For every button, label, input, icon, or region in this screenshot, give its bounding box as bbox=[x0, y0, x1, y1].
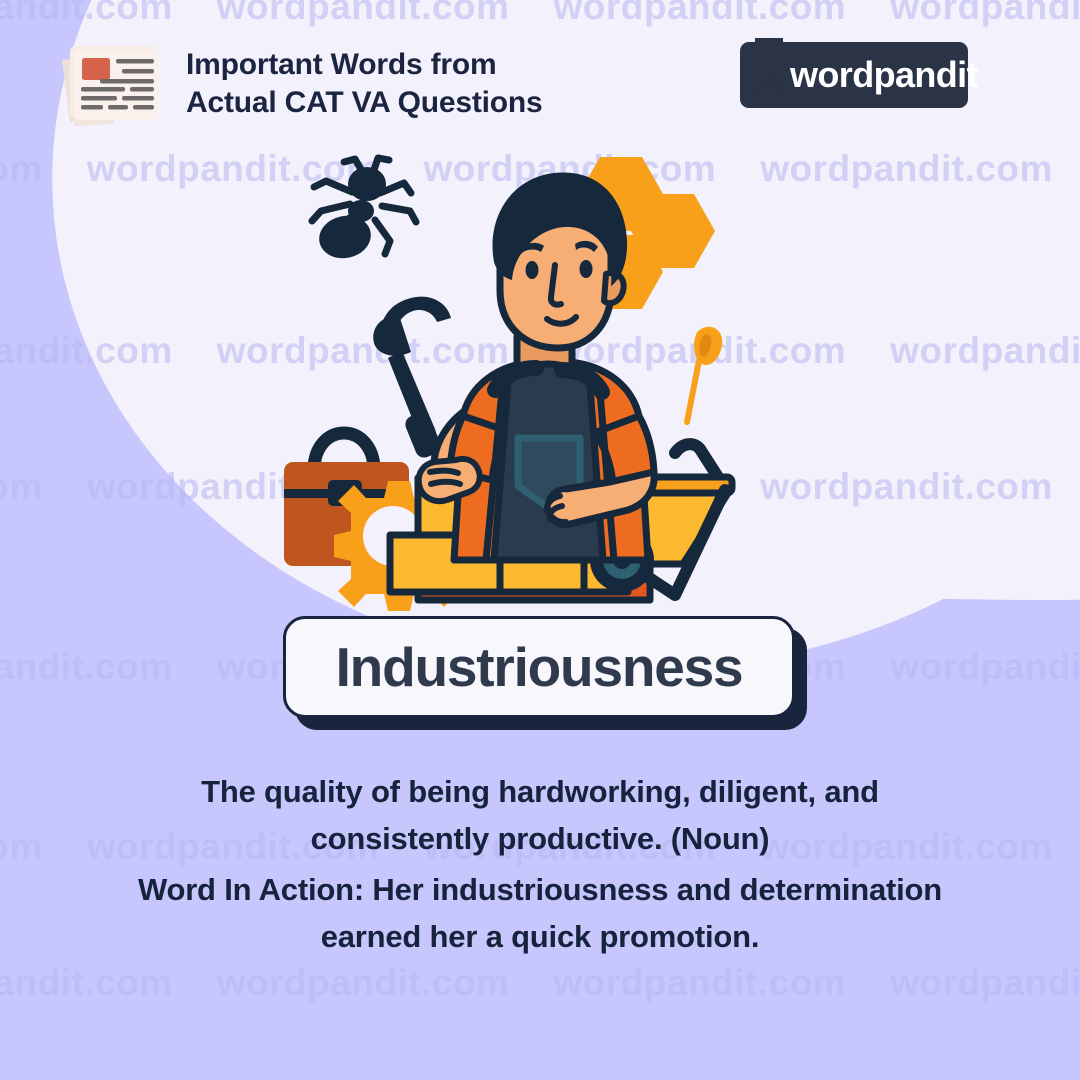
definition-block: The quality of being hardworking, dilige… bbox=[0, 768, 1080, 960]
usage-line-2: earned her a quick promotion. bbox=[0, 913, 1080, 960]
watermark-text: wordpandit.com bbox=[0, 148, 43, 189]
watermark-text: wordpandit.com bbox=[0, 646, 173, 687]
bookmark-w-icon bbox=[752, 36, 786, 98]
watermark-text: wordpandit.com bbox=[890, 646, 1080, 687]
page-title-line2: Actual CAT VA Questions bbox=[186, 84, 543, 122]
usage-line-1: Word In Action: Her industriousness and … bbox=[0, 866, 1080, 913]
illustration bbox=[270, 140, 810, 620]
newspaper-icon bbox=[52, 34, 174, 130]
word-card-box: Industriousness bbox=[283, 616, 795, 718]
word-card-graphic: wordpandit.comwordpandit.comwordpandit.c… bbox=[0, 0, 1080, 1080]
page-title-line1: Important Words from bbox=[186, 48, 496, 81]
definition-line-2: consistently productive. (Noun) bbox=[0, 815, 1080, 862]
screwdriver-icon bbox=[687, 327, 722, 422]
definition-line-1: The quality of being hardworking, dilige… bbox=[0, 768, 1080, 815]
page-title: Important Words from Actual CAT VA Quest… bbox=[186, 46, 543, 123]
watermark-text: wordpandit.com bbox=[0, 962, 173, 1003]
vocabulary-word-card: Industriousness bbox=[283, 616, 795, 718]
watermark-text: wordpandit.com bbox=[0, 466, 43, 507]
watermark-text: wordpandit.com bbox=[890, 962, 1080, 1003]
vocabulary-word: Industriousness bbox=[336, 635, 743, 699]
brand-name: wordpandit bbox=[790, 54, 978, 96]
watermark-text: wordpandit.com bbox=[217, 962, 510, 1003]
watermark-row: wordpandit.comwordpandit.comwordpandit.c… bbox=[0, 962, 1080, 1004]
brand-logo[interactable]: wordpandit bbox=[740, 42, 968, 108]
watermark-text: wordpandit.com bbox=[553, 962, 846, 1003]
